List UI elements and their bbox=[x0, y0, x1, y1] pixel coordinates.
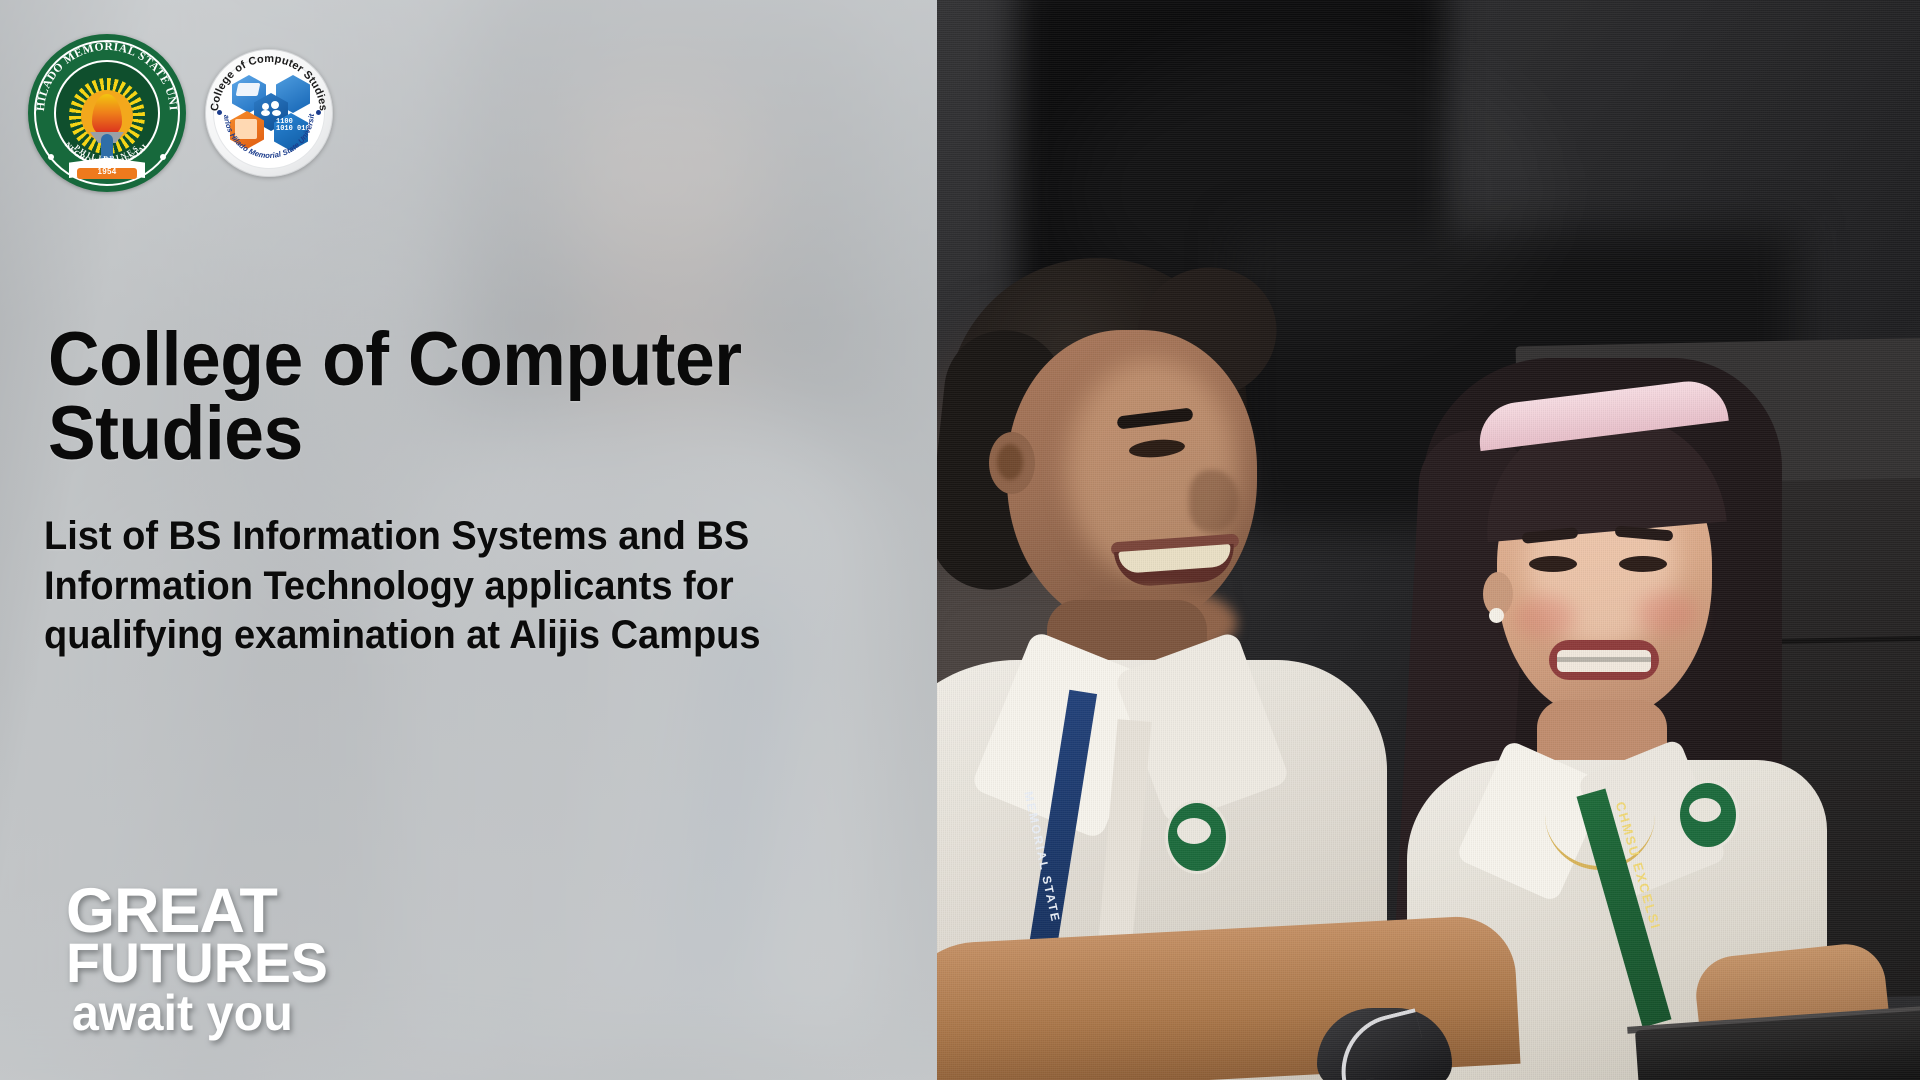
page-title: College of Computer Studies bbox=[48, 323, 828, 470]
college-of-computer-studies-seal-icon: 1100 1010 010 College of Computer Studie… bbox=[205, 49, 333, 177]
poster-canvas: 1954 CARLOS HILADO MEMORIAL STATE UNIVER… bbox=[0, 0, 1920, 1080]
ccs-arc-bottom-label: Carlos Hilado Memorial State University bbox=[206, 50, 316, 160]
page-subtitle: List of BS Information Systems and BS In… bbox=[44, 512, 804, 661]
svg-text:Carlos Hilado Memorial State U: Carlos Hilado Memorial State University bbox=[206, 50, 316, 160]
left-info-panel: 1954 CARLOS HILADO MEMORIAL STATE UNIVER… bbox=[0, 0, 937, 1080]
great-futures-tagline: GREAT FUTURES await you bbox=[66, 885, 330, 1038]
logo-row: 1954 CARLOS HILADO MEMORIAL STATE UNIVER… bbox=[28, 34, 333, 192]
ccs-arc-bottom-text: Carlos Hilado Memorial State University bbox=[206, 50, 332, 176]
students-photo: CHMSU EXCELSI MEMORIAL STATE bbox=[937, 0, 1920, 1080]
tagline-line-await-you: await you bbox=[66, 988, 323, 1038]
svg-text:CARLOS HILADO MEMORIAL STATE U: CARLOS HILADO MEMORIAL STATE UNIVERSITY bbox=[28, 34, 179, 112]
tagline-line-futures: FUTURES bbox=[66, 938, 328, 988]
university-seal-icon: 1954 CARLOS HILADO MEMORIAL STATE UNIVER… bbox=[28, 34, 186, 192]
university-seal-arc-text: CARLOS HILADO MEMORIAL STATE UNIVERSITY … bbox=[28, 34, 186, 192]
seal-arc-top-label: CARLOS HILADO MEMORIAL STATE UNIVERSITY bbox=[28, 34, 179, 112]
